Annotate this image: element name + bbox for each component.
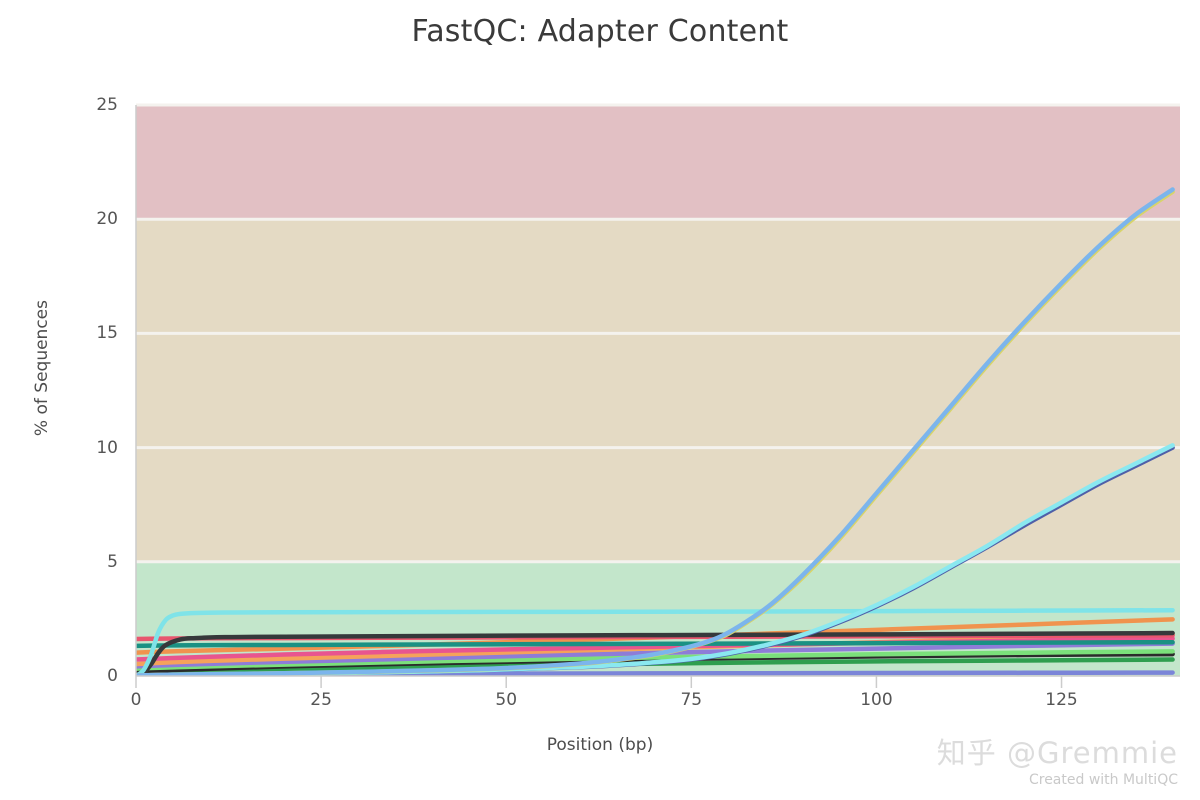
y-tick-label: 10 — [56, 438, 118, 458]
plot-band-warn — [136, 219, 1180, 562]
page-title: FastQC: Adapter Content — [0, 14, 1200, 49]
footer-credit: Created with MultiQC — [1029, 772, 1178, 788]
y-tick-label: 0 — [56, 666, 118, 686]
x-tick-label: 0 — [131, 690, 142, 710]
plot-band-fail — [136, 105, 1180, 219]
x-tick-label: 50 — [495, 690, 517, 710]
watermark: 知乎 @Gremmie — [937, 730, 1178, 772]
y-tick-label: 15 — [56, 323, 118, 343]
y-axis-label: % of Sequences — [32, 300, 52, 436]
x-tick-label: 100 — [860, 690, 892, 710]
y-tick-label: 5 — [56, 552, 118, 572]
plot-area — [0, 0, 1200, 800]
adapter-content-chart: FastQC: Adapter Content % of Sequences P… — [0, 0, 1200, 800]
y-tick-label: 25 — [56, 95, 118, 115]
x-tick-label: 75 — [680, 690, 702, 710]
y-tick-label: 20 — [56, 209, 118, 229]
x-tick-label: 25 — [310, 690, 332, 710]
x-tick-label: 125 — [1045, 690, 1077, 710]
